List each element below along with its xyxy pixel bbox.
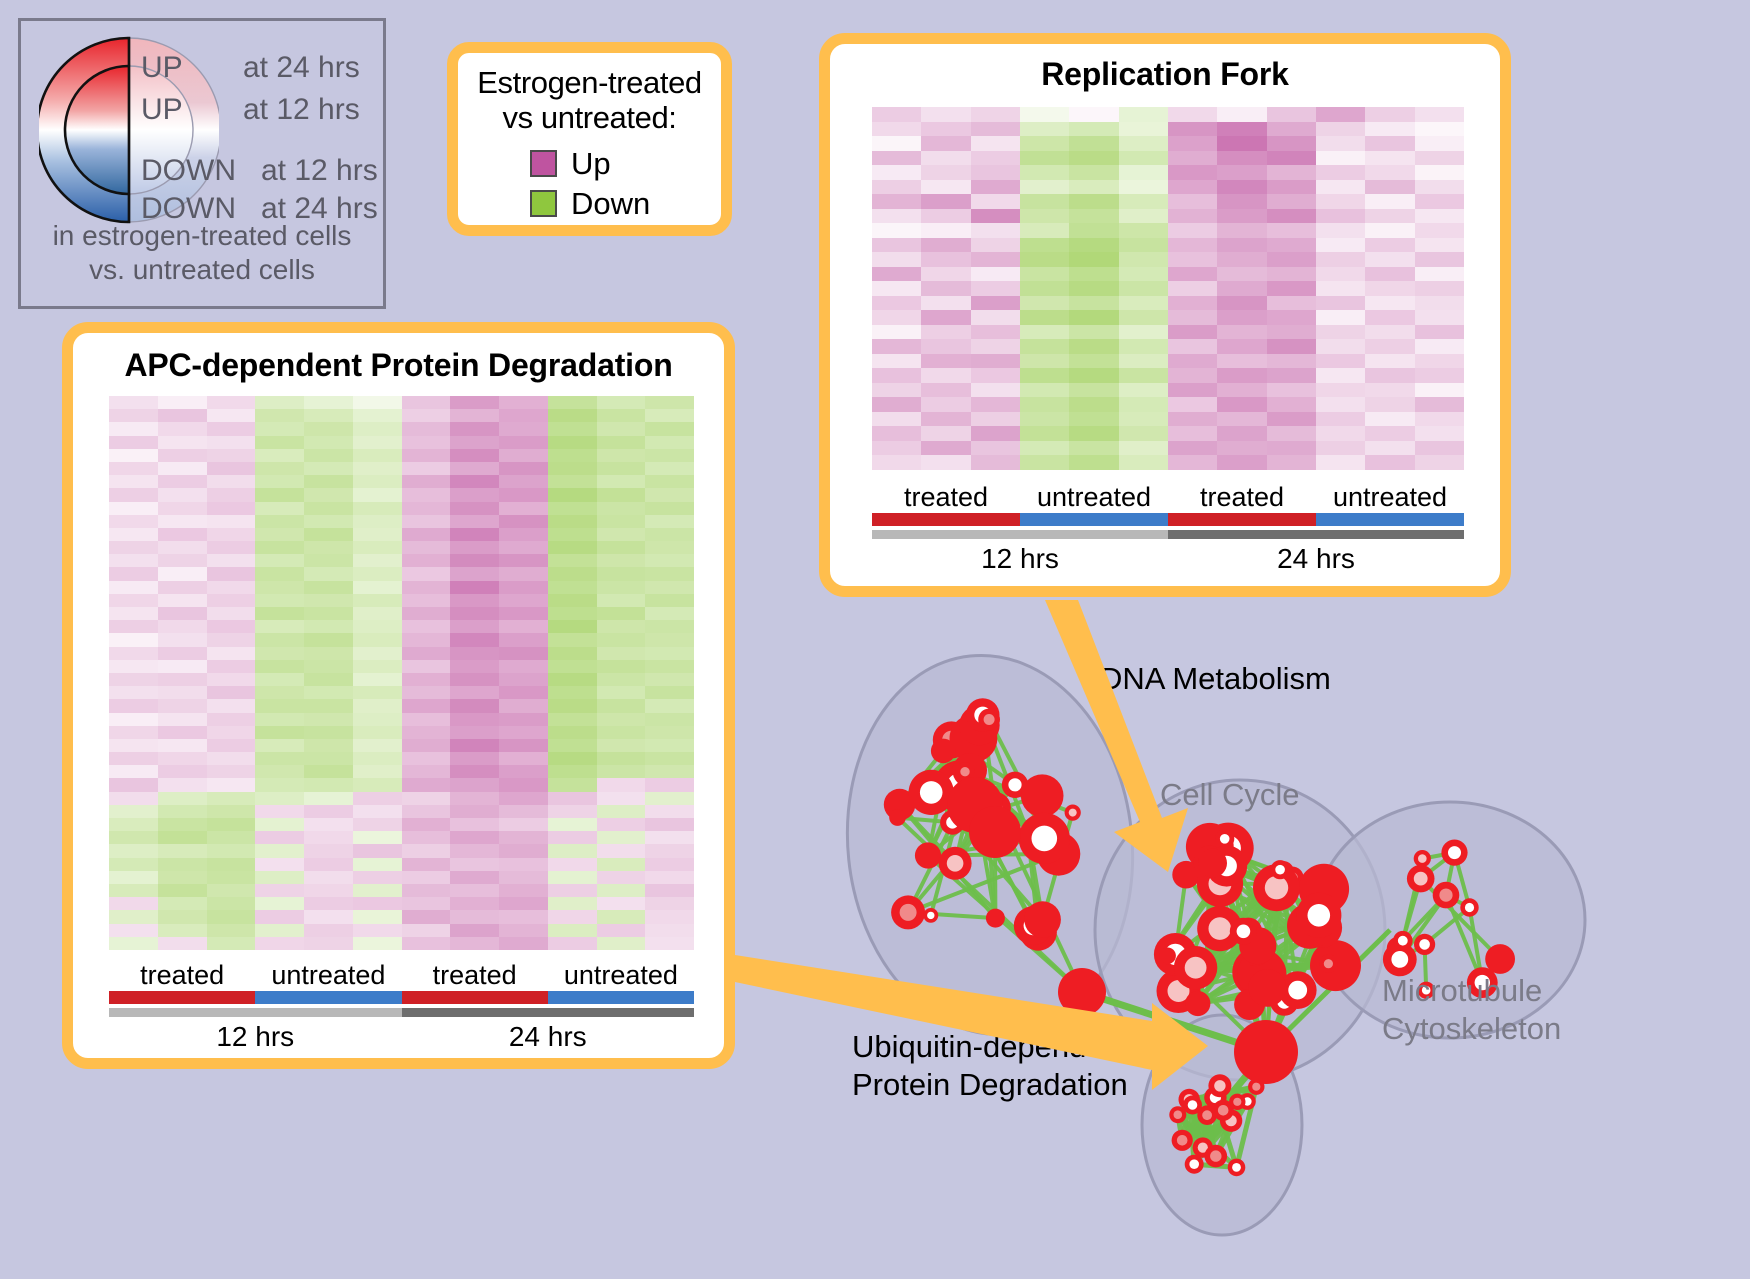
replication-condition-2: treated (1168, 482, 1316, 513)
network-node-core (1252, 1083, 1260, 1091)
heatmap-cell (597, 396, 646, 409)
heatmap-cell (1365, 441, 1414, 456)
heatmap-cell (1415, 281, 1464, 296)
heatmap-cell (255, 739, 304, 752)
heatmap-cell (1217, 339, 1266, 354)
heatmap-cell (1267, 165, 1316, 180)
heatmap-cell (207, 673, 256, 686)
heatmap-cell (597, 502, 646, 515)
heatmap-cell (1069, 397, 1118, 412)
network-node-core (1069, 809, 1077, 817)
heatmap-cell (921, 397, 970, 412)
heatmap-cell (304, 713, 353, 726)
heatmap-cell (499, 713, 548, 726)
heatmap-cell (109, 792, 158, 805)
heatmap-cell (1020, 209, 1069, 224)
heatmap-cell (971, 310, 1020, 325)
circle-key-footnote-line1: in estrogen-treated cells (21, 219, 383, 253)
network-node (931, 739, 956, 764)
heatmap-cell (304, 620, 353, 633)
heatmap-cell (158, 647, 207, 660)
network-node-core (1008, 778, 1021, 791)
heatmap-cell (597, 778, 646, 791)
heatmap-cell (1217, 325, 1266, 340)
heatmap-cell (597, 581, 646, 594)
heatmap-cell (1119, 238, 1168, 253)
apc-degradation-title: APC-dependent Protein Degradation (73, 347, 724, 384)
heatmap-cell (207, 765, 256, 778)
heatmap-cell (353, 528, 402, 541)
heatmap-cell (109, 699, 158, 712)
heatmap-cell (353, 515, 402, 528)
heatmap-cell (353, 673, 402, 686)
network-node-core (1418, 854, 1427, 863)
heatmap-cell (872, 107, 921, 122)
heatmap-cell (402, 726, 451, 739)
heatmap-cell (255, 554, 304, 567)
heatmap-cell (304, 475, 353, 488)
heatmap-cell (548, 713, 597, 726)
heatmap-cell (872, 397, 921, 412)
heatmap-cell (109, 686, 158, 699)
heatmap-cell (109, 475, 158, 488)
heatmap-cell (1415, 455, 1464, 470)
heatmap-cell (158, 910, 207, 923)
heatmap-cell (548, 396, 597, 409)
heatmap-cell (499, 475, 548, 488)
heatmap-cell (304, 924, 353, 937)
network-node-core (1308, 904, 1331, 927)
heatmap-cell (1020, 122, 1069, 137)
heatmap-cell (207, 462, 256, 475)
heatmap-cell (207, 818, 256, 831)
heatmap-cell (921, 310, 970, 325)
heatmap-cell (255, 581, 304, 594)
heatmap-cell (402, 647, 451, 660)
circle-key-row-0-label: UP (141, 51, 183, 85)
heatmap-cell (1415, 325, 1464, 340)
network-node-core (1209, 917, 1232, 940)
heatmap-cell (353, 488, 402, 501)
heatmap-cell (255, 818, 304, 831)
heatmap-cell (1020, 136, 1069, 151)
heatmap-cell (255, 884, 304, 897)
heatmap-cell (597, 673, 646, 686)
heatmap-cell (1316, 397, 1365, 412)
heatmap-cell (402, 924, 451, 937)
heatmap-cell (499, 528, 548, 541)
heatmap-cell (158, 436, 207, 449)
heatmap-cell (255, 924, 304, 937)
heatmap-cell (548, 607, 597, 620)
heatmap-cell (1168, 151, 1217, 166)
estrogen-legend: Estrogen-treated vs untreated: Up Down (447, 42, 732, 236)
heatmap-cell (304, 699, 353, 712)
heatmap-cell (255, 436, 304, 449)
heatmap-cell (597, 713, 646, 726)
heatmap-cell (1069, 267, 1118, 282)
heatmap-cell (1217, 238, 1266, 253)
heatmap-cell (1217, 151, 1266, 166)
network-node-core (1232, 1163, 1241, 1172)
heatmap-cell (1020, 267, 1069, 282)
heatmap-cell (450, 739, 499, 752)
heatmap-cell (402, 871, 451, 884)
heatmap-cell (304, 554, 353, 567)
heatmap-cell (402, 567, 451, 580)
heatmap-cell (645, 567, 694, 580)
heatmap-cell (1069, 368, 1118, 383)
apc-condition-0: treated (109, 960, 255, 991)
heatmap-cell (1415, 441, 1464, 456)
heatmap-cell (402, 752, 451, 765)
heatmap-cell (1069, 339, 1118, 354)
apc-time-1: 24 hrs (402, 1021, 695, 1053)
heatmap-cell (645, 937, 694, 950)
heatmap-cell (548, 660, 597, 673)
heatmap-cell (645, 660, 694, 673)
heatmap-cell (353, 778, 402, 791)
heatmap-cell (1217, 455, 1266, 470)
heatmap-cell (304, 633, 353, 646)
heatmap-cell (255, 831, 304, 844)
heatmap-cell (1415, 252, 1464, 267)
heatmap-cell (1020, 252, 1069, 267)
condition-segment (872, 513, 1020, 526)
heatmap-cell (450, 673, 499, 686)
condition-segment (109, 991, 255, 1004)
heatmap-cell (1069, 194, 1118, 209)
heatmap-cell (207, 699, 256, 712)
heatmap-cell (921, 136, 970, 151)
heatmap-cell (353, 752, 402, 765)
heatmap-cell (255, 844, 304, 857)
heatmap-cell (207, 752, 256, 765)
heatmap-cell (921, 281, 970, 296)
heatmap-cell (1069, 455, 1118, 470)
heatmap-cell (1069, 122, 1118, 137)
heatmap-cell (109, 541, 158, 554)
heatmap-cell (1020, 165, 1069, 180)
heatmap-cell (1267, 267, 1316, 282)
heatmap-cell (645, 699, 694, 712)
heatmap-cell (1316, 455, 1365, 470)
heatmap-cell (971, 180, 1020, 195)
heatmap-cell (255, 409, 304, 422)
heatmap-cell (207, 422, 256, 435)
heatmap-cell (1365, 383, 1414, 398)
heatmap-cell (597, 831, 646, 844)
heatmap-cell (402, 765, 451, 778)
heatmap-cell (548, 581, 597, 594)
heatmap-cell (158, 422, 207, 435)
condition-segment (1316, 513, 1464, 526)
heatmap-cell (158, 937, 207, 950)
heatmap-cell (1069, 281, 1118, 296)
heatmap-cell (548, 699, 597, 712)
heatmap-cell (597, 726, 646, 739)
heatmap-cell (921, 368, 970, 383)
heatmap-cell (109, 752, 158, 765)
heatmap-cell (597, 871, 646, 884)
heatmap-cell (1365, 252, 1414, 267)
heatmap-cell (1365, 339, 1414, 354)
network-node (1198, 849, 1227, 878)
heatmap-cell (304, 765, 353, 778)
heatmap-cell (207, 858, 256, 871)
apc-degradation-heatmap (109, 396, 694, 950)
heatmap-cell (158, 528, 207, 541)
heatmap-cell (872, 180, 921, 195)
heatmap-cell (597, 475, 646, 488)
heatmap-cell (158, 778, 207, 791)
heatmap-cell (971, 194, 1020, 209)
heatmap-cell (109, 924, 158, 937)
heatmap-cell (645, 396, 694, 409)
heatmap-cell (1316, 136, 1365, 151)
heatmap-cell (499, 436, 548, 449)
heatmap-cell (304, 462, 353, 475)
heatmap-cell (207, 924, 256, 937)
heatmap-cell (1217, 223, 1266, 238)
heatmap-cell (872, 412, 921, 427)
heatmap-cell (450, 778, 499, 791)
apc-condition-1: untreated (255, 960, 401, 991)
heatmap-cell (353, 739, 402, 752)
network-node-core (927, 912, 934, 919)
heatmap-cell (109, 871, 158, 884)
heatmap-cell (1020, 455, 1069, 470)
heatmap-cell (1217, 252, 1266, 267)
heatmap-cell (1415, 194, 1464, 209)
heatmap-cell (158, 699, 207, 712)
estrogen-legend-items: Up Down (458, 144, 721, 224)
network-node-core (960, 767, 969, 776)
heatmap-cell (1415, 223, 1464, 238)
heatmap-cell (1020, 339, 1069, 354)
heatmap-cell (971, 383, 1020, 398)
circle-key-footnote: in estrogen-treated cells vs. untreated … (21, 219, 383, 287)
heatmap-cell (353, 462, 402, 475)
heatmap-cell (499, 752, 548, 765)
heatmap-cell (597, 633, 646, 646)
heatmap-cell (450, 660, 499, 673)
heatmap-cell (921, 383, 970, 398)
heatmap-cell (872, 339, 921, 354)
heatmap-cell (207, 910, 256, 923)
replication-condition-labels: treated untreated treated untreated (872, 482, 1464, 513)
heatmap-cell (1217, 267, 1266, 282)
heatmap-cell (548, 686, 597, 699)
network-node-core (1237, 925, 1251, 939)
heatmap-cell (645, 858, 694, 871)
heatmap-cell (645, 436, 694, 449)
apc-time-0: 12 hrs (109, 1021, 402, 1053)
heatmap-cell (207, 871, 256, 884)
heatmap-cell (353, 713, 402, 726)
circle-key-row-1-time: at 12 hrs (243, 93, 360, 127)
heatmap-cell (1217, 412, 1266, 427)
heatmap-cell (645, 528, 694, 541)
heatmap-cell (1365, 180, 1414, 195)
heatmap-cell (1020, 310, 1069, 325)
heatmap-cell (1365, 426, 1414, 441)
heatmap-cell (1415, 383, 1464, 398)
heatmap-cell (450, 554, 499, 567)
heatmap-cell (1316, 383, 1365, 398)
heatmap-cell (304, 884, 353, 897)
heatmap-cell (1267, 339, 1316, 354)
heatmap-cell (1267, 180, 1316, 195)
heatmap-cell (921, 325, 970, 340)
heatmap-cell (1020, 354, 1069, 369)
heatmap-cell (1267, 281, 1316, 296)
network-node-core (1448, 846, 1461, 859)
heatmap-cell (1365, 310, 1414, 325)
time-segment (109, 1008, 402, 1017)
heatmap-cell (450, 633, 499, 646)
network-node (1024, 901, 1061, 938)
heatmap-cell (971, 441, 1020, 456)
heatmap-cell (548, 792, 597, 805)
heatmap-cell (1267, 194, 1316, 209)
heatmap-cell (353, 871, 402, 884)
heatmap-cell (1267, 310, 1316, 325)
heatmap-cell (450, 620, 499, 633)
heatmap-cell (1217, 122, 1266, 137)
heatmap-cell (1119, 455, 1168, 470)
replication-fork-heatmap (872, 107, 1464, 470)
heatmap-cell (255, 765, 304, 778)
heatmap-cell (304, 778, 353, 791)
heatmap-cell (255, 633, 304, 646)
heatmap-cell (1119, 165, 1168, 180)
heatmap-cell (645, 647, 694, 660)
heatmap-cell (1168, 296, 1217, 311)
heatmap-cell (1168, 136, 1217, 151)
heatmap-cell (971, 267, 1020, 282)
heatmap-cell (597, 422, 646, 435)
cluster-label-cytoskeleton: Cytoskeleton (1382, 1012, 1561, 1047)
heatmap-cell (207, 475, 256, 488)
heatmap-cell (304, 897, 353, 910)
heatmap-cell (971, 325, 1020, 340)
circle-key-footnote-line2: vs. untreated cells (21, 253, 383, 287)
heatmap-cell (1267, 151, 1316, 166)
network-node (986, 909, 1005, 928)
heatmap-cell (158, 673, 207, 686)
heatmap-cell (402, 607, 451, 620)
heatmap-cell (255, 686, 304, 699)
heatmap-cell (597, 805, 646, 818)
heatmap-cell (1119, 412, 1168, 427)
heatmap-cell (548, 633, 597, 646)
heatmap-cell (1020, 281, 1069, 296)
heatmap-cell (499, 660, 548, 673)
heatmap-cell (158, 488, 207, 501)
heatmap-cell (971, 122, 1020, 137)
heatmap-cell (1415, 122, 1464, 137)
heatmap-cell (1168, 441, 1217, 456)
heatmap-cell (304, 422, 353, 435)
heatmap-cell (353, 502, 402, 515)
heatmap-cell (1415, 368, 1464, 383)
heatmap-cell (207, 792, 256, 805)
heatmap-cell (450, 607, 499, 620)
heatmap-cell (1119, 252, 1168, 267)
heatmap-cell (255, 858, 304, 871)
heatmap-cell (971, 223, 1020, 238)
heatmap-cell (304, 871, 353, 884)
replication-fork-panel: Replication Fork treated untreated treat… (819, 33, 1511, 597)
heatmap-cell (645, 449, 694, 462)
heatmap-cell (402, 792, 451, 805)
heatmap-cell (255, 541, 304, 554)
heatmap-cell (872, 209, 921, 224)
heatmap-cell (645, 502, 694, 515)
heatmap-cell (304, 858, 353, 871)
heatmap-cell (1119, 368, 1168, 383)
heatmap-cell (1020, 180, 1069, 195)
heatmap-cell (971, 252, 1020, 267)
circle-key-row-0-time: at 24 hrs (243, 51, 360, 85)
heatmap-cell (499, 686, 548, 699)
heatmap-cell (1415, 354, 1464, 369)
heatmap-cell (1168, 455, 1217, 470)
network-node-core (1398, 936, 1408, 946)
heatmap-cell (402, 541, 451, 554)
heatmap-cell (1365, 209, 1414, 224)
heatmap-cell (255, 937, 304, 950)
heatmap-cell (450, 436, 499, 449)
heatmap-cell (402, 633, 451, 646)
heatmap-cell (402, 844, 451, 857)
heatmap-cell (255, 475, 304, 488)
heatmap-cell (1316, 107, 1365, 122)
heatmap-cell (255, 805, 304, 818)
heatmap-cell (255, 660, 304, 673)
heatmap-cell (499, 488, 548, 501)
heatmap-cell (304, 647, 353, 660)
heatmap-cell (597, 515, 646, 528)
heatmap-cell (450, 805, 499, 818)
heatmap-cell (353, 620, 402, 633)
heatmap-cell (1415, 209, 1464, 224)
heatmap-cell (450, 475, 499, 488)
heatmap-cell (1020, 397, 1069, 412)
heatmap-cell (1365, 325, 1414, 340)
heatmap-cell (158, 897, 207, 910)
heatmap-cell (1415, 180, 1464, 195)
heatmap-cell (255, 726, 304, 739)
heatmap-cell (499, 422, 548, 435)
heatmap-cell (1217, 368, 1266, 383)
heatmap-cell (872, 122, 921, 137)
heatmap-cell (304, 541, 353, 554)
heatmap-cell (597, 567, 646, 580)
heatmap-cell (548, 462, 597, 475)
heatmap-cell (304, 818, 353, 831)
heatmap-cell (645, 409, 694, 422)
network-node-core (1210, 1150, 1221, 1161)
heatmap-cell (971, 209, 1020, 224)
heatmap-cell (548, 752, 597, 765)
heatmap-cell (645, 884, 694, 897)
heatmap-cell (353, 436, 402, 449)
heatmap-cell (109, 726, 158, 739)
heatmap-cell (645, 462, 694, 475)
heatmap-cell (548, 515, 597, 528)
